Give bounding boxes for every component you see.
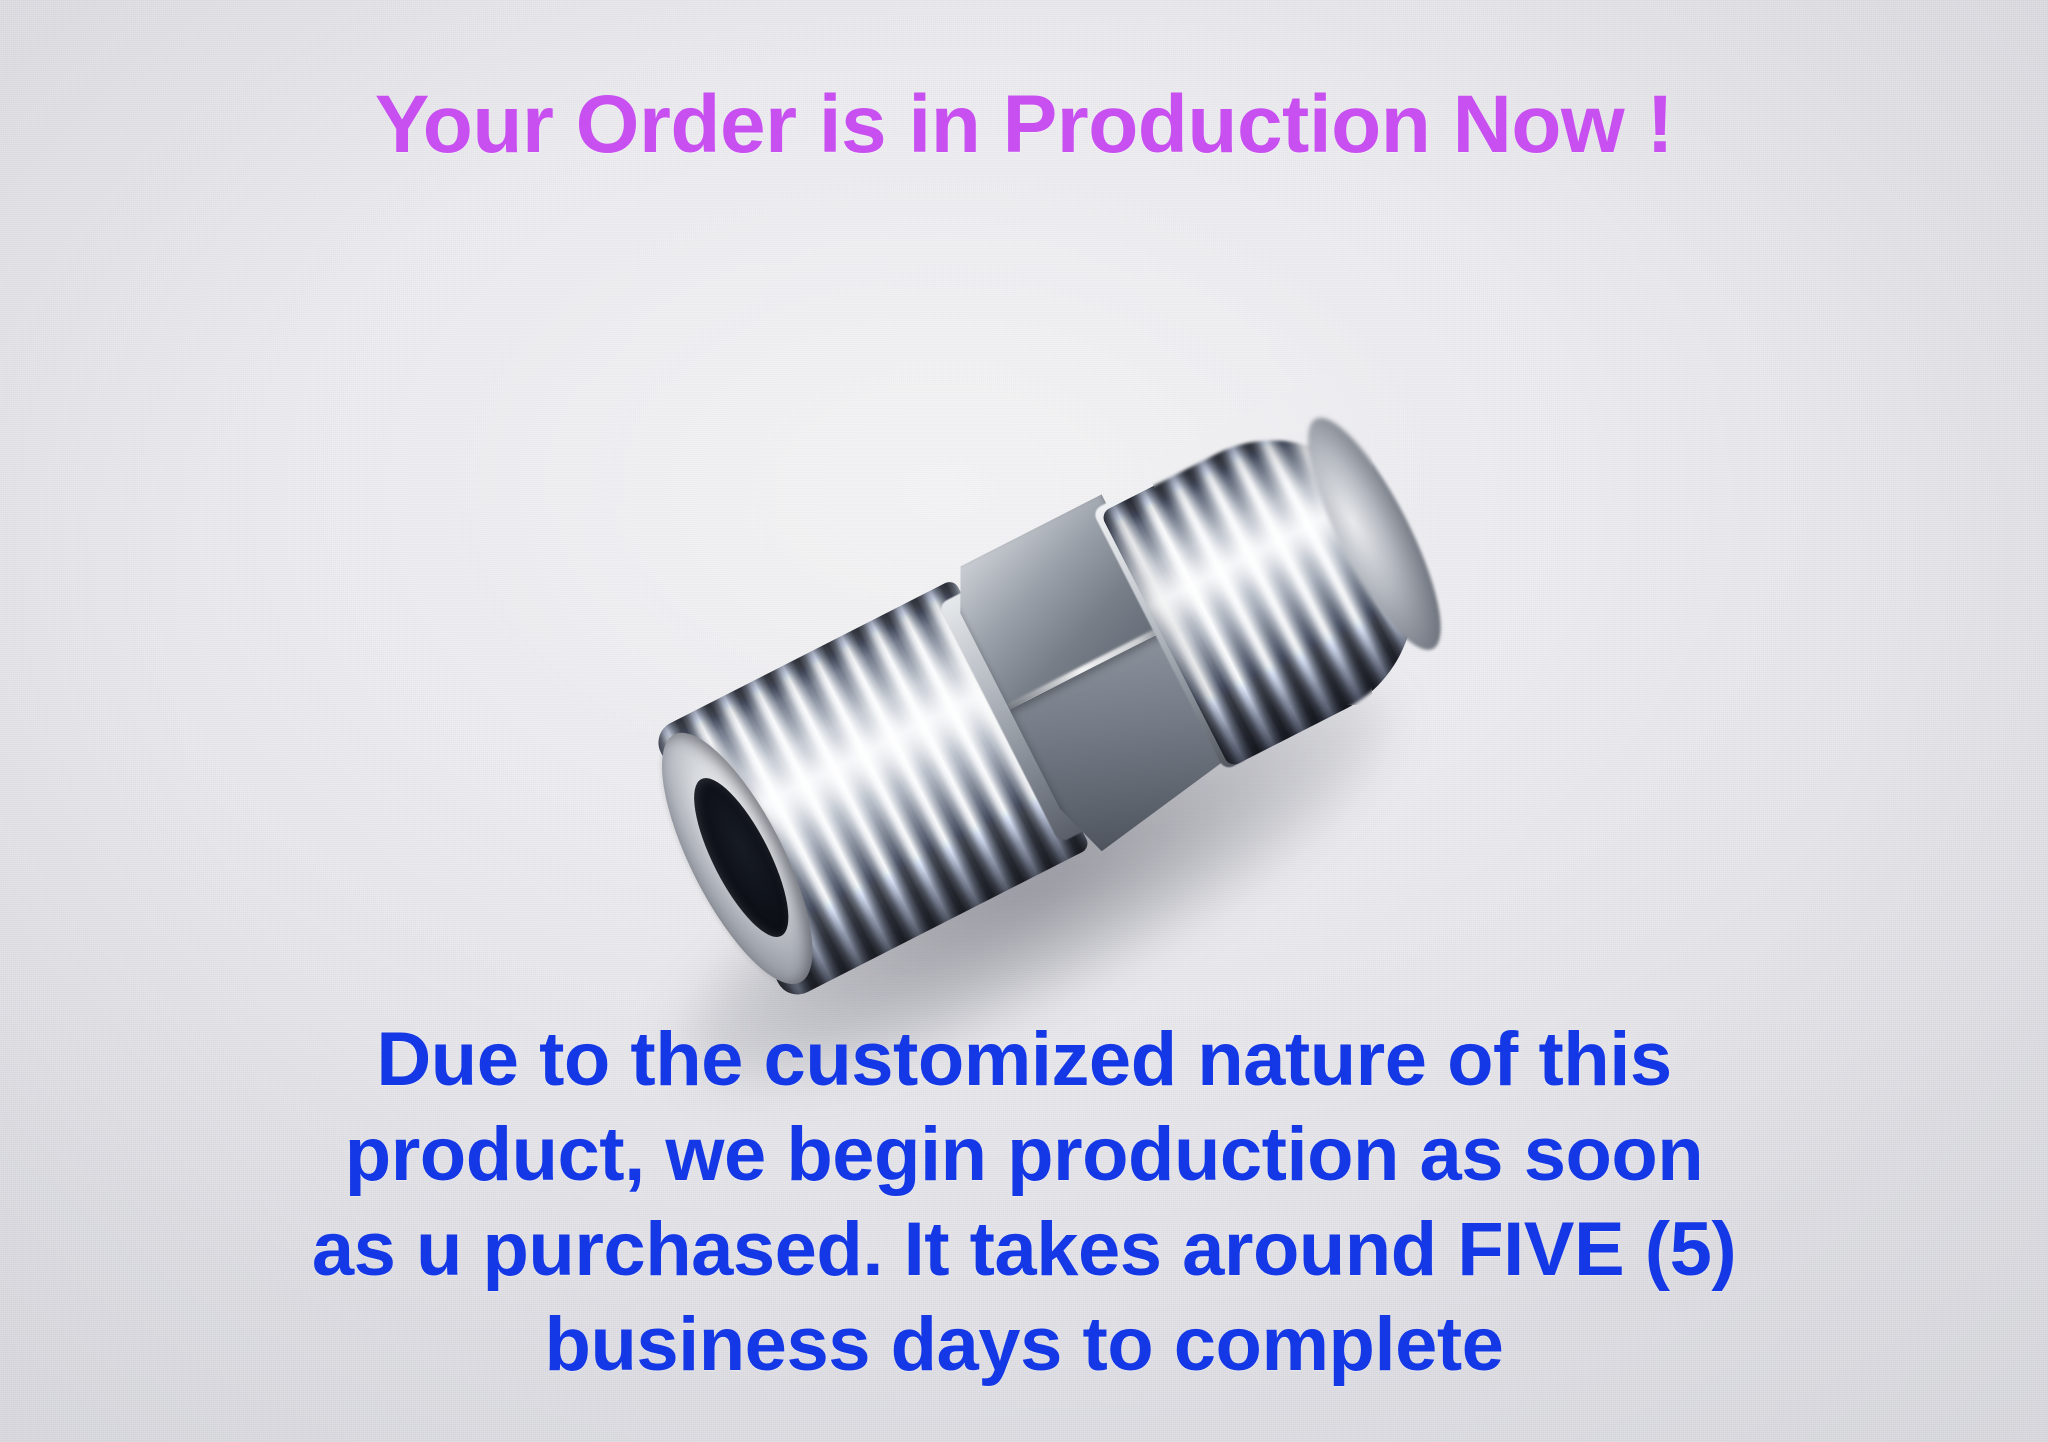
product-notice-banner: Your Order is in Production Now ! Due to… — [0, 0, 2048, 1442]
notice-line: Due to the customized nature of this — [0, 1012, 2048, 1107]
production-headline: Your Order is in Production Now ! — [0, 78, 2048, 172]
notice-line: product, we begin production as soon — [0, 1107, 2048, 1202]
production-notice-text: Due to the customized nature of this pro… — [0, 1012, 2048, 1392]
notice-line: business days to complete — [0, 1297, 2048, 1392]
product-photo — [600, 400, 1500, 1060]
notice-line: as u purchased. It takes around FIVE (5) — [0, 1202, 2048, 1297]
